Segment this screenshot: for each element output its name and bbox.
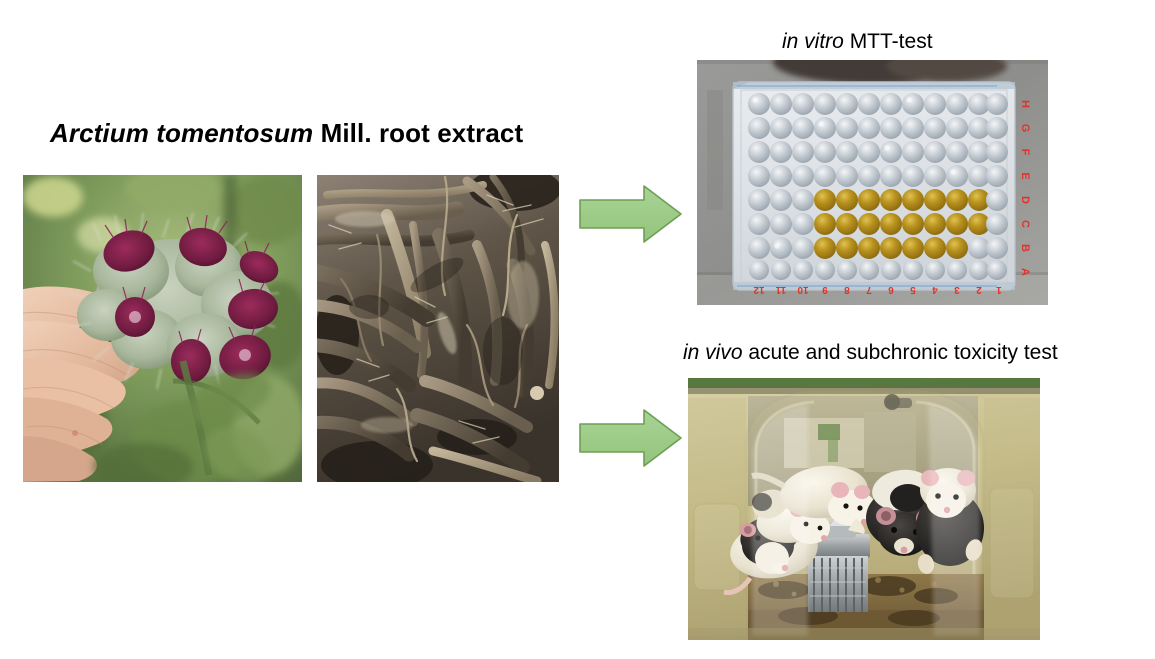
burdock-flower-illustration (23, 175, 302, 482)
burdock-flower-photo (23, 175, 302, 482)
mtt-caption-italic: in vitro (782, 30, 844, 53)
svg-text:E: E (1019, 172, 1031, 179)
invivo-caption-rest: acute and subchronic toxicity test (743, 341, 1058, 364)
right-arrow-icon (578, 407, 683, 469)
right-arrow-icon (578, 183, 683, 245)
arrow-to-mtt (578, 183, 683, 245)
svg-text:D: D (1019, 196, 1031, 204)
rat-cage-illustration (688, 378, 1040, 640)
burdock-root-photo (317, 175, 559, 482)
burdock-root-illustration (317, 175, 559, 482)
mtt-microplate-photo: H G F E D C B A 12 11 10 9 8 7 6 5 4 3 2… (697, 60, 1048, 305)
svg-text:G: G (1019, 124, 1031, 133)
svg-text:B: B (1019, 244, 1031, 252)
svg-text:F: F (1019, 149, 1031, 156)
svg-text:C: C (1019, 220, 1031, 228)
microplate-illustration: H G F E D C B A 12 11 10 9 8 7 6 5 4 3 2… (697, 60, 1048, 305)
svg-text:H: H (1019, 100, 1031, 108)
pale-root-knob (530, 386, 544, 400)
invivo-test-caption: in vivo acute and subchronic toxicity te… (683, 341, 1058, 365)
invivo-caption-italic: in vivo (683, 341, 743, 364)
mtt-test-caption: in vitro MTT-test (782, 30, 933, 54)
mtt-caption-rest: MTT-test (844, 30, 933, 53)
species-name: Arctium tomentosum (50, 118, 313, 148)
arrow-to-invivo (578, 407, 683, 469)
title-rest: Mill. root extract (313, 118, 523, 148)
page-title: Arctium tomentosum Mill. root extract (50, 118, 523, 149)
svg-text:A: A (1019, 268, 1031, 276)
rat-cage-photo (688, 378, 1040, 640)
